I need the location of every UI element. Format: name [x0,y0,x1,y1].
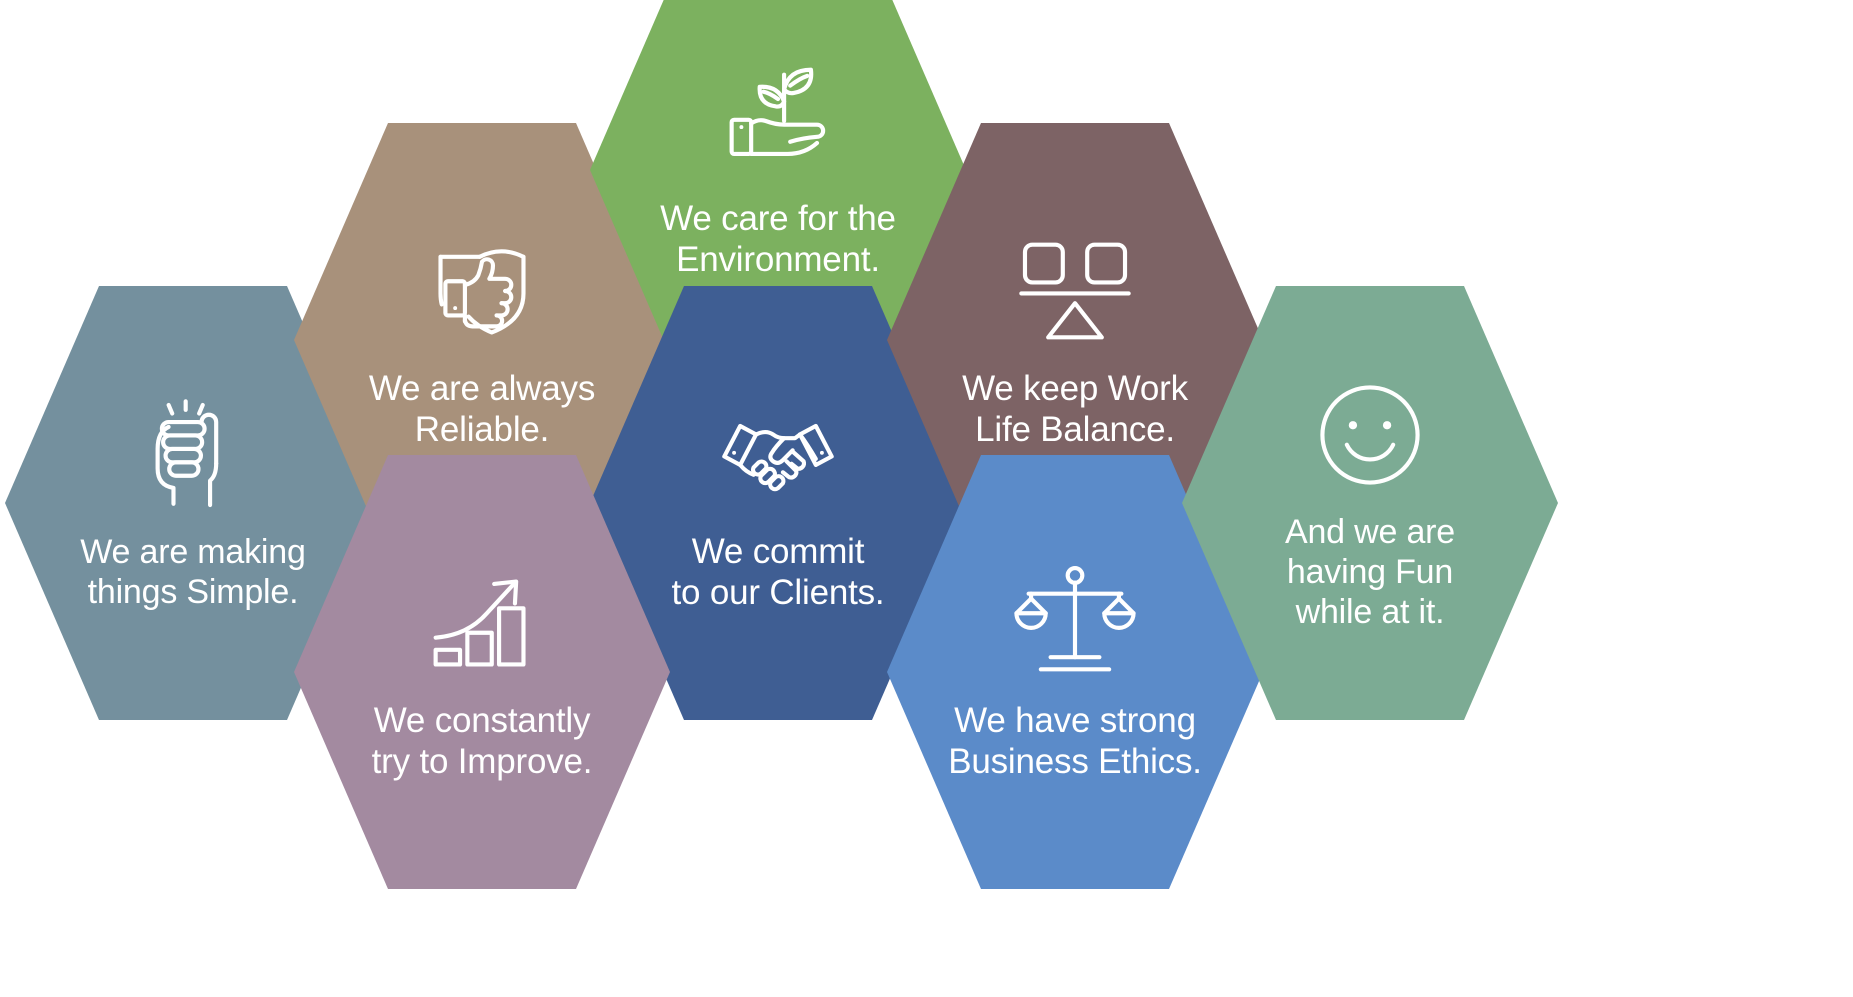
growth-bar-chart-arrow-icon [421,562,543,684]
pointing-finger-hand-icon [132,394,254,516]
value-tile-label: We care for the Environment. [660,198,896,281]
seesaw-balance-icon [1014,230,1136,352]
handshake-icon [717,393,839,515]
smiley-face-icon [1309,374,1431,496]
value-tile-label: We keep Work Life Balance. [962,368,1188,451]
value-tile-label: We have strong Business Ethics. [948,700,1202,783]
value-tile-label: We constantly try to Improve. [372,700,593,783]
value-tile-label: We are always Reliable. [369,368,595,451]
value-tile-label: And we are having Fun while at it. [1285,512,1455,632]
thumbs-up-shield-icon [421,230,543,352]
hand-holding-seedling-icon [717,60,839,182]
infographic-canvas: We are making things Simple. We are alwa… [0,0,1853,997]
value-tile-label: We commit to our Clients. [672,531,885,614]
scales-of-justice-icon [1014,562,1136,684]
value-tile-label: We are making things Simple. [80,532,305,612]
